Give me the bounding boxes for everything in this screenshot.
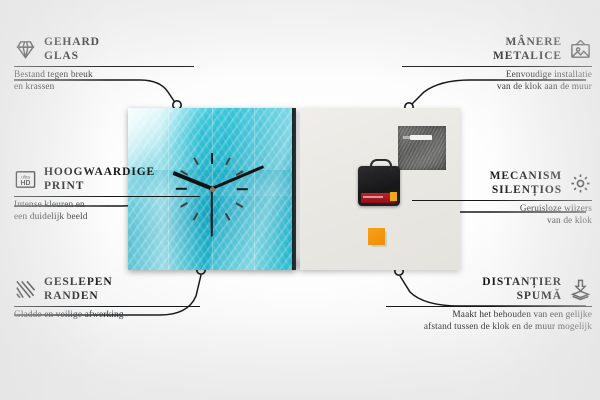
hanger-loop: [370, 159, 392, 171]
callout-title: MECANISM SILENȚIOS: [490, 170, 562, 197]
callout-title: HOOGWAARDIGE PRINT: [44, 166, 155, 193]
callout-hoogwaardige-print: ultra HD HOOGWAARDIGE PRINT Intense kleu…: [14, 166, 200, 223]
svg-text:ultra: ultra: [21, 175, 30, 180]
battery: [361, 193, 395, 203]
clock-second-hand: [211, 189, 213, 237]
callout-title: GEHARD GLAS: [44, 36, 100, 63]
callout-gehard-glas: GEHARD GLAS Bestand tegen breuk en krass…: [14, 36, 194, 93]
callout-subtext: Eenvoudige installatie van de klok aan d…: [402, 70, 592, 93]
callout-rule: [14, 66, 194, 67]
callout-subtext: Gladde en veilige afwerking: [14, 310, 200, 322]
clock-glass-edge: [292, 108, 296, 270]
callout-rule: [14, 196, 200, 197]
callout-rule: [402, 66, 592, 67]
callout-mecanism-silentios: MECANISM SILENȚIOS Geruisloze wijzers va…: [412, 170, 592, 227]
callout-subtext: Maakt het behouden van een gelijke afsta…: [386, 310, 592, 333]
foam-spacer: [368, 228, 385, 245]
diagonal-lines-icon: [14, 278, 37, 301]
callout-header: ultra HD HOOGWAARDIGE PRINT: [14, 166, 200, 193]
callout-header: GESLEPEN RANDEN: [14, 276, 200, 303]
callout-header: DISTANȚIER SPUMĂ: [386, 276, 592, 303]
callout-subtext: Geruisloze wijzers van de klok: [412, 204, 592, 227]
clock-mechanism: [358, 166, 400, 206]
spacer-arrow-icon: [569, 278, 592, 301]
callout-title: GESLEPEN RANDEN: [44, 276, 113, 303]
picture-hanger-icon: [569, 38, 592, 61]
callout-header: MECANISM SILENȚIOS: [412, 170, 592, 197]
callout-rule: [386, 306, 592, 307]
clock-center-pin: [210, 187, 215, 192]
gear-icon: [569, 172, 592, 195]
callout-manere-metalice: MÂNERE METALICE Eenvoudige installatie v…: [402, 36, 592, 93]
callout-geslepen-randen: GESLEPEN RANDEN Gladde en veilige afwerk…: [14, 276, 200, 322]
hanger-slot: [410, 135, 432, 140]
callout-header: MÂNERE METALICE: [402, 36, 592, 63]
callout-subtext: Bestand tegen breuk en krassen: [14, 70, 194, 93]
ultra-hd-icon: ultra HD: [14, 168, 37, 191]
diamond-icon: [14, 38, 37, 61]
callout-title: DISTANȚIER SPUMĂ: [482, 276, 562, 303]
callout-header: GEHARD GLAS: [14, 36, 194, 63]
svg-text:HD: HD: [21, 180, 31, 187]
callout-subtext: Intense kleuren en een duidelijk beeld: [14, 200, 200, 223]
callout-title: MÂNERE METALICE: [493, 36, 562, 63]
callout-rule: [14, 306, 200, 307]
glass-pane-line: [254, 108, 255, 270]
callout-rule: [412, 200, 592, 201]
product-feature-infographic: GEHARD GLAS Bestand tegen breuk en krass…: [0, 0, 600, 400]
metal-hanger-plate: [398, 126, 446, 170]
callout-distantier-spuma: DISTANȚIER SPUMĂ Maakt het behouden van …: [386, 276, 592, 333]
